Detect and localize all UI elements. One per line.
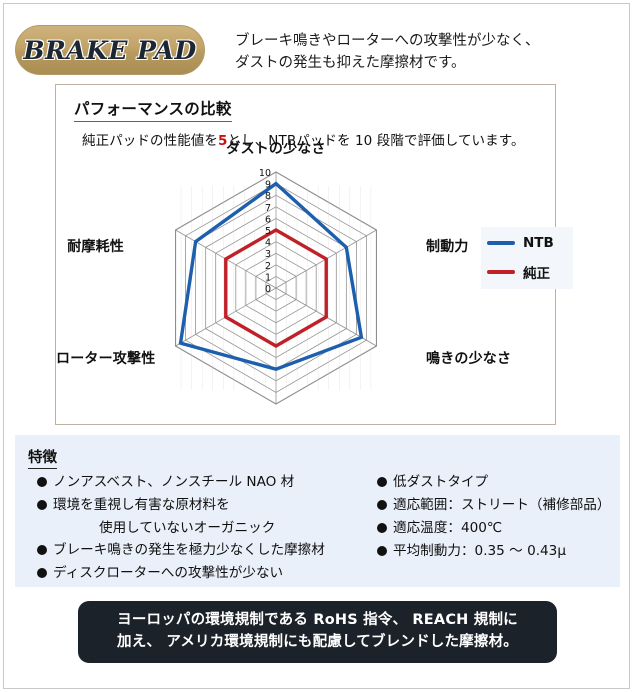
compliance-banner: ヨーロッパの環境規制である RoHS 指令、 REACH 規制に 加え、 アメリ…: [78, 601, 557, 663]
axis-label-rotor-attack: ローター攻撃性: [56, 348, 124, 368]
feature-item: 平均制動力：0.35 〜 0.43μ: [377, 540, 617, 562]
feature-item: ブレーキ鳴きの発生を極力少なくした摩擦材: [37, 539, 377, 561]
performance-comparison-panel: パフォーマンスの比較 純正パッドの性能値を5とし、NTBパッドを 10 段階で評…: [55, 84, 556, 425]
features-left-column: ノンアスベスト、ノンスチール NAO 材 環境を重視し有害な原材料を 使用してい…: [37, 471, 377, 585]
feature-text: 平均制動力：0.35 〜 0.43μ: [393, 540, 566, 562]
feature-item: 低ダストタイプ: [377, 471, 617, 493]
bullet-icon: [377, 523, 387, 533]
product-page: BRAKE PAD ブレーキ鳴きやローターへの攻撃性が少なく、 ダストの発生も抑…: [3, 3, 630, 689]
axis-label-wear-resistance: 耐摩耗性: [56, 236, 124, 256]
feature-item: 適応範囲：ストリート（補修部品）: [377, 494, 617, 516]
feature-text: 適応範囲：ストリート（補修部品）: [393, 494, 611, 516]
panel-title: パフォーマンスの比較: [74, 97, 232, 122]
svg-text:2: 2: [265, 261, 271, 272]
header-tagline: ブレーキ鳴きやローターへの攻撃性が少なく、 ダストの発生も抑えた摩擦材です。: [235, 30, 615, 75]
svg-text:6: 6: [265, 214, 271, 225]
radar-chart-svg: 012345678910: [56, 157, 496, 419]
legend-swatch-genuine: [487, 270, 515, 274]
tagline-line-1: ブレーキ鳴きやローターへの攻撃性が少なく、: [235, 30, 615, 52]
axis-label-dust: ダストの少なさ: [56, 138, 496, 158]
feature-text: ノンアスベスト、ノンスチール NAO 材: [53, 471, 294, 493]
legend-label-genuine: 純正: [523, 262, 550, 282]
svg-text:9: 9: [265, 180, 271, 191]
svg-text:5: 5: [265, 226, 271, 237]
feature-text-continuation: 使用していないオーガニック: [37, 517, 377, 539]
feature-item: ノンアスベスト、ノンスチール NAO 材: [37, 471, 377, 493]
bullet-icon: [37, 568, 47, 578]
legend-label-ntb: NTB: [523, 235, 554, 251]
feature-text: ブレーキ鳴きの発生を極力少なくした摩擦材: [53, 539, 325, 561]
bullet-icon: [377, 477, 387, 487]
svg-text:8: 8: [265, 191, 271, 202]
banner-line-1: ヨーロッパの環境規制である RoHS 指令、 REACH 規制に: [117, 610, 518, 632]
tagline-line-2: ダストの発生も抑えた摩擦材です。: [235, 52, 615, 74]
feature-text: 環境を重視し有害な原材料を: [53, 494, 230, 516]
features-section: 特徴 ノンアスベスト、ノンスチール NAO 材 環境を重視し有害な原材料を 使用…: [15, 435, 620, 587]
chart-legend: NTB 純正: [481, 227, 573, 289]
legend-swatch-ntb: [487, 241, 515, 245]
feature-text: 適応温度：400℃: [393, 517, 502, 539]
radar-chart: 012345678910 ダストの少なさ 制動力 鳴きの少なさ コントロール性 …: [56, 157, 496, 419]
feature-item: 環境を重視し有害な原材料を: [37, 494, 377, 516]
page-header: BRAKE PAD ブレーキ鳴きやローターへの攻撃性が少なく、 ダストの発生も抑…: [4, 4, 631, 76]
svg-text:0: 0: [265, 284, 271, 295]
brake-pad-logo: BRAKE PAD: [15, 25, 205, 75]
feature-text: ディスクローターへの攻撃性が少ない: [53, 562, 283, 584]
legend-item-ntb: NTB: [487, 235, 573, 251]
logo-text: BRAKE PAD: [23, 36, 196, 65]
svg-text:1: 1: [265, 272, 271, 283]
banner-line-2: 加え、 アメリカ環境規制にも配慮してブレンドした摩擦材。: [117, 632, 518, 654]
svg-text:7: 7: [265, 203, 271, 214]
feature-item: 適応温度：400℃: [377, 517, 617, 539]
bullet-icon: [377, 546, 387, 556]
features-right-column: 低ダストタイプ 適応範囲：ストリート（補修部品） 適応温度：400℃ 平均制動力…: [377, 471, 617, 563]
svg-text:3: 3: [265, 249, 271, 260]
feature-item: ディスクローターへの攻撃性が少ない: [37, 562, 377, 584]
legend-item-genuine: 純正: [487, 262, 573, 282]
axis-label-noise: 鳴きの少なさ: [426, 348, 511, 368]
bullet-icon: [37, 477, 47, 487]
svg-text:4: 4: [265, 238, 271, 249]
features-title: 特徴: [28, 446, 57, 469]
bullet-icon: [377, 500, 387, 510]
feature-text: 低ダストタイプ: [393, 471, 488, 493]
svg-text:10: 10: [259, 168, 271, 179]
bullet-icon: [37, 500, 47, 510]
bullet-icon: [37, 545, 47, 555]
axis-label-braking: 制動力: [426, 236, 469, 256]
